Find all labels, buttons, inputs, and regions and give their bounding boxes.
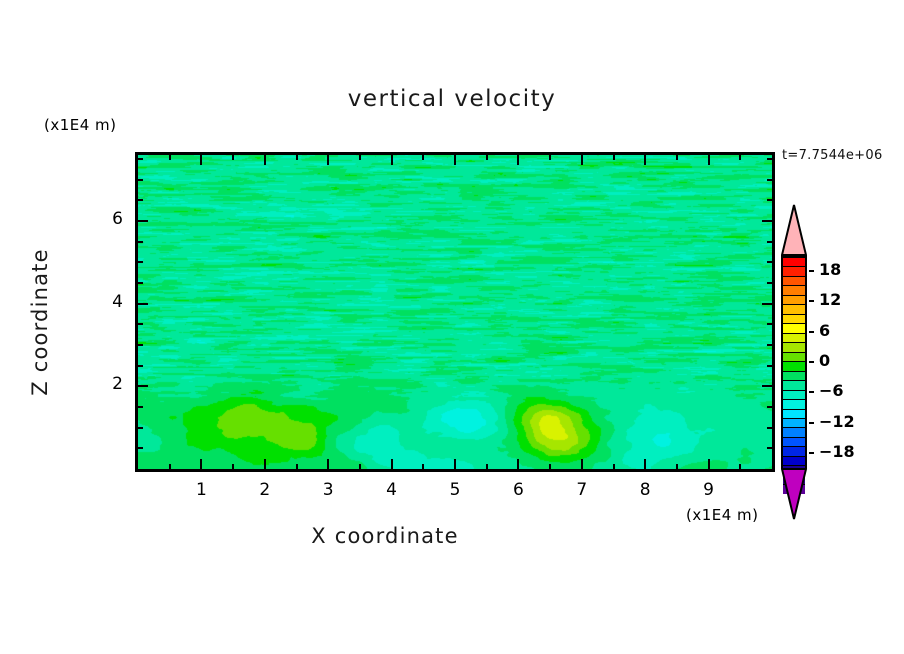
colorbar-band: [783, 276, 805, 285]
x-axis-title: X coordinate: [0, 524, 770, 548]
x-tick-minor-top: [676, 152, 678, 160]
y-tick-minor-right: [767, 241, 775, 243]
x-tick-major-top: [454, 152, 456, 165]
x-tick-major: [200, 459, 202, 472]
x-tick-major-top: [327, 152, 329, 165]
y-tick-minor-right: [767, 365, 775, 367]
y-tick-minor-right: [767, 179, 775, 181]
colorbar-tick: [809, 452, 814, 454]
colorbar-band: [783, 371, 805, 380]
y-tick-minor: [135, 179, 143, 181]
y-axis-unit-label: (x1E4 m): [44, 116, 117, 134]
x-tick-minor-top: [359, 152, 361, 160]
colorbar-band: [783, 266, 805, 275]
colorbar-tick: [809, 391, 814, 393]
y-tick-minor: [135, 323, 143, 325]
x-tick-major: [454, 459, 456, 472]
x-tick-major-top: [391, 152, 393, 165]
colorbar-under-arrow-icon: [781, 468, 807, 520]
x-tick-label: 8: [625, 480, 665, 500]
x-tick-major-top: [644, 152, 646, 165]
x-tick-label: 4: [372, 480, 412, 500]
y-tick-minor: [135, 365, 143, 367]
y-tick-minor-right: [767, 282, 775, 284]
x-tick-label: 5: [435, 480, 475, 500]
colorbar-tick: [809, 300, 814, 302]
x-tick-minor: [613, 464, 615, 472]
colorbar-tick-label: −18: [819, 442, 855, 461]
x-tick-major: [264, 459, 266, 472]
x-tick-minor: [232, 464, 234, 472]
y-tick-minor-right: [767, 344, 775, 346]
colorbar-band: [783, 437, 805, 446]
colorbar-band: [783, 258, 805, 266]
timestamp-label: t=7.7544e+06: [782, 148, 883, 163]
colorbar-band: [783, 352, 805, 361]
x-tick-minor-top: [296, 152, 298, 160]
y-tick-label: 4: [95, 292, 123, 312]
y-tick-minor: [135, 282, 143, 284]
y-tick-major: [135, 303, 148, 305]
colorbar-band: [783, 409, 805, 418]
colorbar-tick: [809, 331, 814, 333]
y-tick-major-right: [762, 303, 775, 305]
x-tick-label: 1: [181, 480, 221, 500]
y-tick-minor-right: [767, 447, 775, 449]
x-tick-minor: [359, 464, 361, 472]
x-tick-minor-top: [549, 152, 551, 160]
colorbar-tick-label: −12: [819, 412, 855, 431]
x-tick-major: [517, 459, 519, 472]
x-tick-label: 3: [308, 480, 348, 500]
y-tick-minor: [135, 241, 143, 243]
colorbar-tick-label: −6: [819, 381, 844, 400]
page-title: vertical velocity: [0, 86, 904, 112]
colorbar-band: [783, 342, 805, 351]
x-tick-minor-top: [169, 152, 171, 160]
x-tick-major: [391, 459, 393, 472]
x-tick-minor-top: [739, 152, 741, 160]
colorbar-band: [783, 314, 805, 323]
colorbar-band: [783, 427, 805, 436]
x-tick-major-top: [264, 152, 266, 165]
y-tick-minor: [135, 406, 143, 408]
colorbar-tick-label: 6: [819, 321, 830, 340]
colorbar-band: [783, 323, 805, 332]
x-tick-minor: [676, 464, 678, 472]
colorbar-tick: [809, 361, 814, 363]
x-tick-major-top: [708, 152, 710, 165]
colorbar-bands: [781, 256, 807, 468]
colorbar-band: [783, 285, 805, 294]
x-tick-minor: [739, 464, 741, 472]
x-tick-minor-top: [422, 152, 424, 160]
y-tick-minor-right: [767, 199, 775, 201]
colorbar-band: [783, 361, 805, 370]
x-tick-major: [581, 459, 583, 472]
colorbar-band: [783, 295, 805, 304]
colorbar-band: [783, 380, 805, 389]
colorbar-tick-label: 18: [819, 260, 841, 279]
colorbar-band: [783, 418, 805, 427]
y-tick-minor-right: [767, 427, 775, 429]
x-tick-major-top: [200, 152, 202, 165]
x-tick-minor: [486, 464, 488, 472]
x-tick-label: 9: [689, 480, 729, 500]
x-tick-major-top: [517, 152, 519, 165]
y-tick-major: [135, 220, 148, 222]
y-tick-minor: [135, 344, 143, 346]
x-tick-label: 7: [562, 480, 602, 500]
y-tick-minor-right: [767, 261, 775, 263]
y-tick-major-right: [762, 220, 775, 222]
colorbar-band: [783, 304, 805, 313]
x-tick-minor: [549, 464, 551, 472]
colorbar-tick-label: 0: [819, 351, 830, 370]
x-axis-unit-label: (x1E4 m): [686, 506, 759, 524]
colorbar-tick: [809, 422, 814, 424]
x-tick-major-top: [581, 152, 583, 165]
colorbar-over-arrow-icon: [781, 204, 807, 256]
velocity-field-canvas: [138, 155, 772, 469]
x-tick-minor-top: [613, 152, 615, 160]
x-tick-minor: [169, 464, 171, 472]
x-tick-major: [644, 459, 646, 472]
colorbar-tick-label: 12: [819, 290, 841, 309]
x-tick-major: [327, 459, 329, 472]
colorbar-band: [783, 456, 805, 465]
x-tick-label: 2: [245, 480, 285, 500]
x-tick-minor-top: [486, 152, 488, 160]
x-tick-minor: [296, 464, 298, 472]
y-tick-minor: [135, 261, 143, 263]
y-tick-minor: [135, 447, 143, 449]
colorbar-tick: [809, 270, 814, 272]
y-tick-major: [135, 385, 148, 387]
x-tick-major: [708, 459, 710, 472]
colorbar-band: [783, 446, 805, 455]
y-axis-title: Z coordinate: [28, 192, 52, 452]
x-tick-label: 6: [498, 480, 538, 500]
y-tick-minor-right: [767, 406, 775, 408]
colorbar[interactable]: 181260−6−12−18: [778, 204, 812, 520]
x-tick-minor: [422, 464, 424, 472]
y-tick-minor: [135, 199, 143, 201]
y-tick-minor-right: [767, 158, 775, 160]
y-tick-minor: [135, 427, 143, 429]
colorbar-band: [783, 399, 805, 408]
y-tick-major-right: [762, 385, 775, 387]
y-tick-label: 6: [95, 209, 123, 229]
y-tick-minor: [135, 158, 143, 160]
y-tick-minor-right: [767, 323, 775, 325]
x-tick-minor-top: [232, 152, 234, 160]
colorbar-band: [783, 390, 805, 399]
contour-plot-area[interactable]: [135, 152, 775, 472]
colorbar-band: [783, 333, 805, 342]
y-tick-label: 2: [95, 374, 123, 394]
